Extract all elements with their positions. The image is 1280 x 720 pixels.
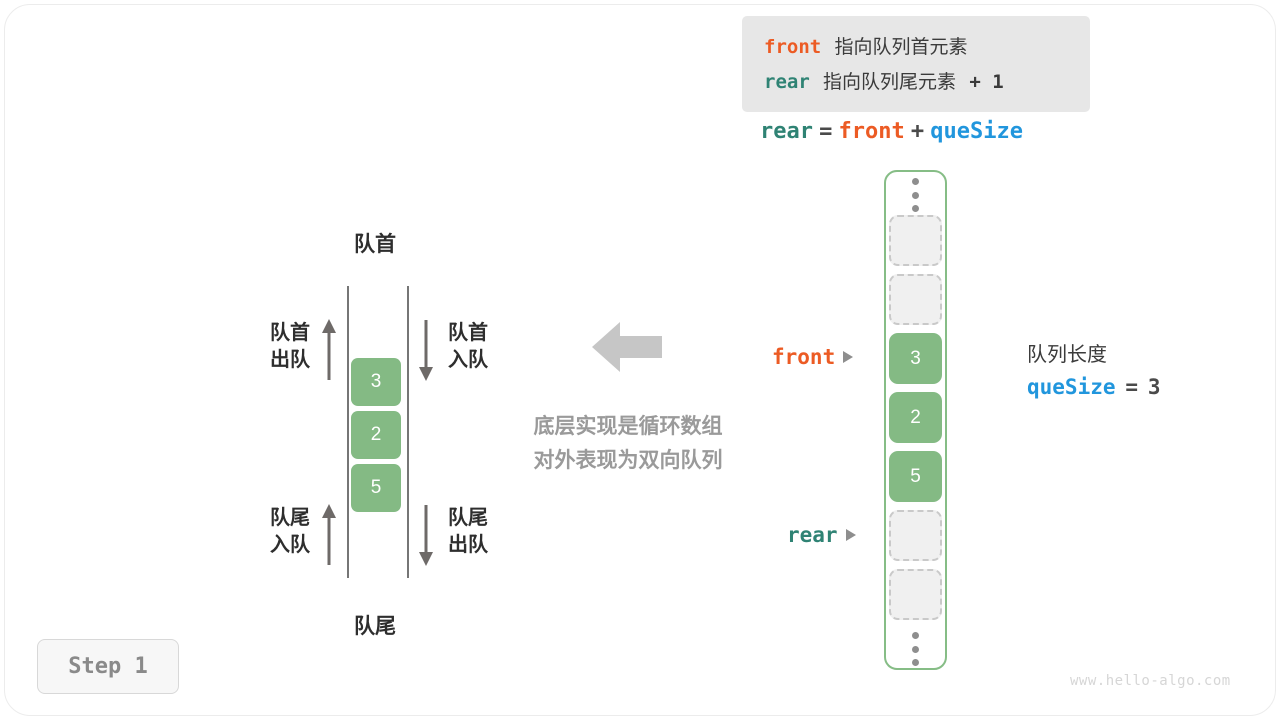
array-cell-filled: 3 [889,333,942,384]
deque-cell: 2 [351,411,401,459]
legend-rear-suffix: + 1 [969,71,1003,93]
legend-front-desc: 指向队列首元素 [834,36,967,58]
label-head-dequeue-line2: 出队 [250,347,310,374]
ellipsis-top-icon [908,178,923,212]
deque-tail-label: 队尾 [310,610,440,640]
pointer-triangle-icon [843,351,853,363]
label-head-enqueue-line1: 队首 [448,320,488,347]
legend-line-front: front 指向队列首元素 [764,30,1090,65]
deque-head-label: 队首 [310,228,440,258]
arrow-up-tail-enqueue-icon [317,503,341,567]
pointer-triangle-icon [846,529,856,541]
queue-size-note: 队列长度 queSize = 3 [1027,340,1161,405]
center-note-line2: 对外表现为双向队列 [500,444,756,478]
label-tail-enqueue-line2: 入队 [250,532,310,559]
array-cell-empty [889,215,942,266]
pointer-legend-box: front 指向队列首元素 rear 指向队列尾元素 + 1 [742,16,1090,112]
dot [912,659,919,666]
queue-size-expression: queSize = 3 [1027,370,1161,405]
center-note: 底层实现是循环数组 对外表现为双向队列 [500,410,756,478]
dot [912,192,919,199]
center-note-line1: 底层实现是循环数组 [500,410,756,444]
big-left-arrow-icon [592,320,662,374]
legend-front-name: front [764,36,821,58]
dot [912,178,919,185]
deque-rail-right [407,286,409,578]
step-badge: Step 1 [37,639,179,694]
front-pointer-label: front [772,345,853,369]
label-tail-enqueue-line1: 队尾 [250,505,310,532]
formula-equals: = [819,119,832,144]
label-tail-dequeue-line2: 出队 [448,532,488,559]
formula-quesize: queSize [930,119,1023,144]
deque-rail-left [347,286,349,578]
watermark: www.hello-algo.com [1070,673,1231,689]
diagram-canvas: front 指向队列首元素 rear 指向队列尾元素 + 1 rear = fr… [0,0,1280,720]
dot [912,632,919,639]
label-head-dequeue: 队首 出队 [250,320,310,374]
rear-pointer-label: rear [787,523,856,547]
dot [912,205,919,212]
arrow-down-head-enqueue-icon [414,318,438,382]
queue-size-title: 队列长度 [1027,340,1161,370]
label-head-dequeue-line1: 队首 [250,320,310,347]
quesize-value: 3 [1148,375,1161,399]
quesize-var: queSize [1027,375,1116,399]
legend-rear-desc: 指向队列尾元素 [823,71,956,93]
formula-front: front [838,119,904,144]
array-cell-filled: 5 [889,451,942,502]
array-cell-empty [889,569,942,620]
label-head-enqueue-line2: 入队 [448,347,488,374]
arrow-down-tail-dequeue-icon [414,503,438,567]
array-cell-empty [889,274,942,325]
rear-pointer-text: rear [787,523,838,547]
legend-rear-name: rear [764,71,810,93]
legend-line-rear: rear 指向队列尾元素 + 1 [764,65,1090,100]
front-pointer-text: front [772,345,835,369]
formula-rear: rear [760,119,813,144]
label-tail-dequeue-line1: 队尾 [448,505,488,532]
deque-cell: 5 [351,464,401,512]
array-cell-empty [889,510,942,561]
ellipsis-bottom-icon [908,632,923,666]
quesize-equals: = [1125,375,1138,399]
label-tail-dequeue: 队尾 出队 [448,505,488,559]
dot [912,646,919,653]
arrow-up-head-dequeue-icon [317,318,341,382]
label-head-enqueue: 队首 入队 [448,320,488,374]
label-tail-enqueue: 队尾 入队 [250,505,310,559]
array-cell-filled: 2 [889,392,942,443]
formula-plus: + [911,119,924,144]
rear-formula: rear = front + queSize [760,118,1023,144]
deque-cell: 3 [351,358,401,406]
